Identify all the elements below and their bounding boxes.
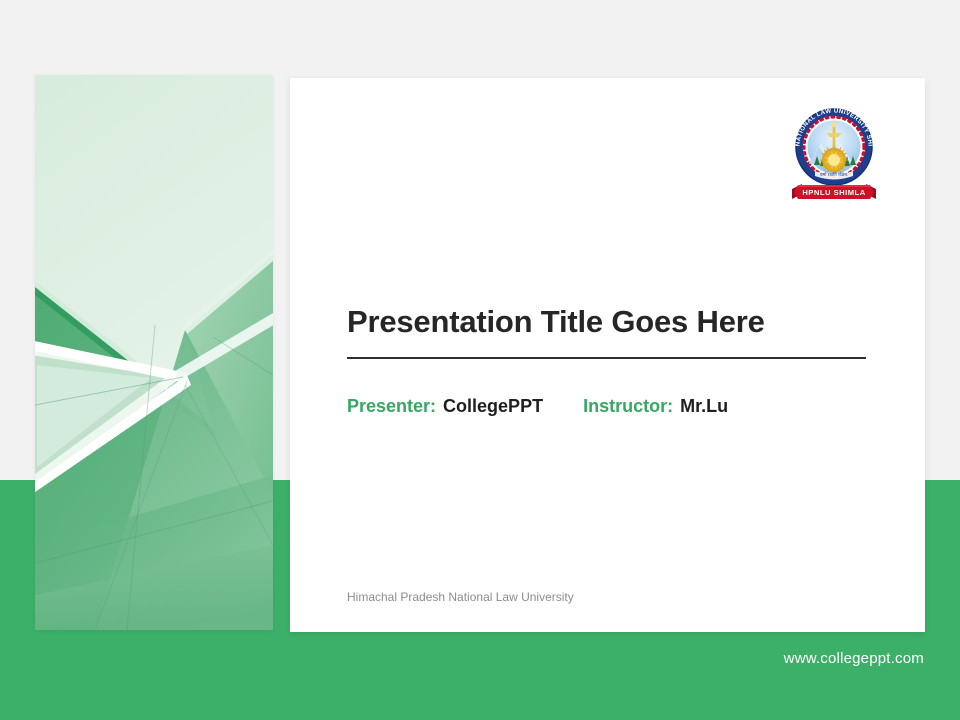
- instructor-value: Mr.Lu: [680, 396, 728, 417]
- presenter-group: Presenter: CollegePPT: [347, 396, 543, 417]
- title-block: Presentation Title Goes Here: [347, 303, 867, 359]
- title-divider: [347, 357, 866, 359]
- crest-ribbon-text: HPNLU SHIMLA: [802, 188, 865, 197]
- presenter-value: CollegePPT: [443, 396, 543, 417]
- site-url-text: www.collegeppt.com: [784, 650, 924, 667]
- instructor-group: Instructor: Mr.Lu: [583, 396, 728, 417]
- presenter-label: Presenter:: [347, 396, 436, 417]
- credits-row: Presenter: CollegePPT Instructor: Mr.Lu: [347, 396, 728, 417]
- university-crest-logo: H.P. NATIONAL LAW UNIVERSITY SHIMLA: [788, 103, 880, 205]
- instructor-label: Instructor:: [583, 396, 673, 417]
- decorative-photo-panel: [35, 75, 273, 630]
- photo-artwork: [35, 75, 273, 630]
- crest-artwork: H.P. NATIONAL LAW UNIVERSITY SHIMLA: [788, 103, 880, 205]
- page-title: Presentation Title Goes Here: [347, 303, 867, 340]
- slide-card: H.P. NATIONAL LAW UNIVERSITY SHIMLA: [290, 78, 925, 632]
- slide-footer-text: Himachal Pradesh National Law University: [347, 590, 574, 604]
- crest-motto-text: धर्मो रक्षति रक्षित:: [820, 171, 849, 177]
